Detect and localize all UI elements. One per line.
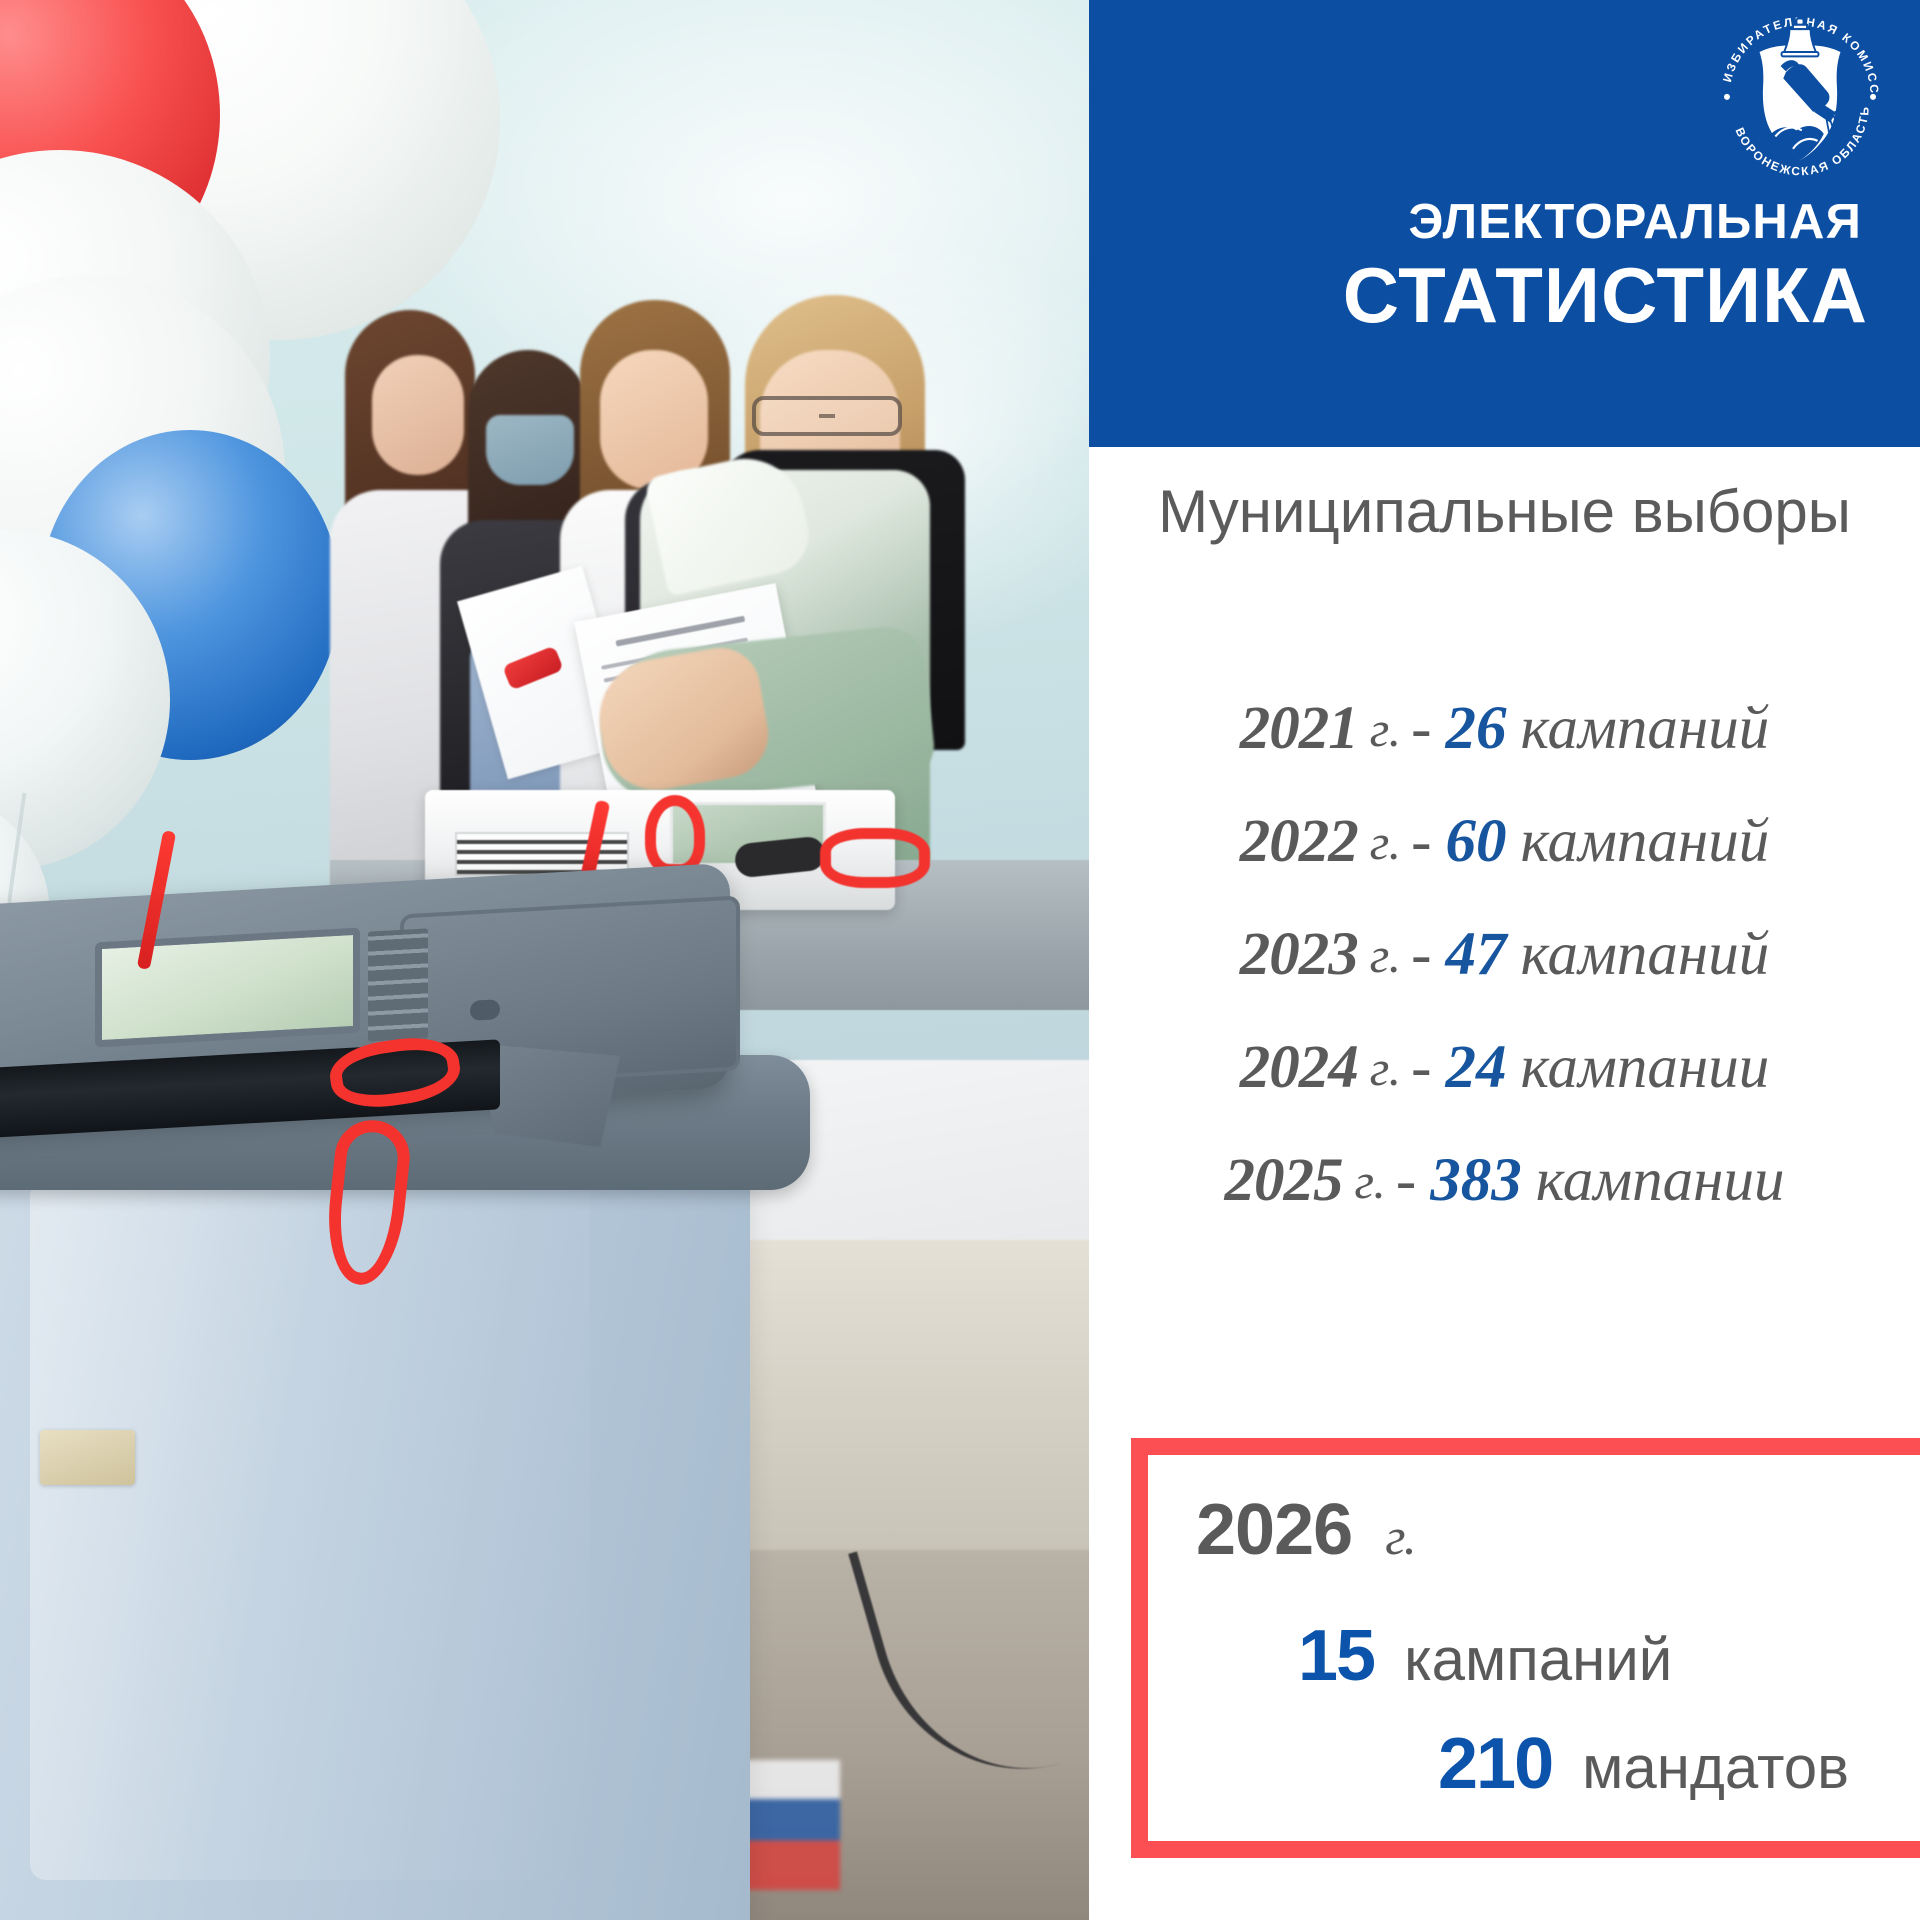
ballot-box-label: [40, 1430, 135, 1485]
campaign-unit: кампаний: [1404, 1625, 1672, 1694]
year-suffix: г.: [1370, 700, 1401, 758]
year-suffix: г.: [1370, 1039, 1401, 1097]
campaign-unit: кампании: [1536, 1146, 1785, 1216]
campaign-count: 60: [1445, 807, 1506, 877]
mandate-unit: мандатов: [1582, 1733, 1849, 1802]
year-label: 2023: [1240, 920, 1358, 990]
year-label: 2022: [1240, 807, 1358, 877]
year-label: 2021: [1240, 694, 1358, 764]
year-stat-row: 2022 г. - 60 кампаний: [1089, 785, 1920, 898]
year-label: 2024: [1240, 1033, 1358, 1103]
campaign-count: 26: [1445, 694, 1506, 764]
glasses-icon: [752, 396, 902, 436]
year-stat-row: 2023 г. - 47 кампаний: [1089, 898, 1920, 1011]
stats-panel: ИЗБИРАТЕЛЬНАЯ КОМИССИЯ ВОРОНЕЖСКАЯ ОБЛАС…: [1089, 0, 1920, 1920]
highlight-year: 2026: [1196, 1490, 1352, 1570]
campaign-count: 383: [1430, 1146, 1522, 1216]
section-subtitle: Муниципальные выборы: [1089, 478, 1920, 545]
dash: -: [1411, 1033, 1431, 1103]
highlight-row-campaigns: 15 кампаний: [1298, 1615, 1672, 1697]
campaign-unit: кампаний: [1520, 694, 1769, 764]
highlight-row-mandates: 210 мандатов: [1438, 1723, 1849, 1805]
polling-station-photo: [0, 0, 1089, 1920]
year-suffix: г.: [1370, 813, 1401, 871]
scanner-keypad: [368, 928, 428, 1041]
dash: -: [1411, 920, 1431, 990]
dash: -: [1396, 1146, 1416, 1216]
campaign-unit: кампаний: [1520, 807, 1769, 877]
ballot-box-sheen: [30, 1180, 590, 1880]
dash: -: [1411, 807, 1431, 877]
campaign-unit: кампании: [1520, 1033, 1769, 1103]
year-stats-list: 2021 г. - 26 кампаний 2022 г. - 60 кампа…: [1089, 672, 1920, 1237]
campaign-count: 24: [1445, 1033, 1506, 1103]
year-stat-row: 2025 г. - 383 кампании: [1089, 1124, 1920, 1237]
campaign-count: 47: [1445, 920, 1506, 990]
dash: -: [1411, 694, 1431, 764]
infographic-page: ИЗБИРАТЕЛЬНАЯ КОМИССИЯ ВОРОНЕЖСКАЯ ОБЛАС…: [0, 0, 1920, 1920]
voronezh-election-commission-emblem: ИЗБИРАТЕЛЬНАЯ КОМИССИЯ ВОРОНЕЖСКАЯ ОБЛАС…: [1712, 8, 1888, 184]
campaign-unit: кампаний: [1520, 920, 1769, 990]
year-suffix: г.: [1355, 1152, 1386, 1210]
voter-figure: [372, 355, 464, 475]
year-label: 2025: [1225, 1146, 1343, 1216]
scanner-latch: [470, 999, 500, 1021]
page-title: СТАТИСТИКА: [1089, 250, 1868, 341]
year-suffix: г.: [1370, 926, 1401, 984]
voter-figure: [486, 415, 574, 485]
panel-header: ИЗБИРАТЕЛЬНАЯ КОМИССИЯ ВОРОНЕЖСКАЯ ОБЛАС…: [1089, 0, 1920, 447]
highlight-box-2026: 2026 г. 15 кампаний 210 мандатов: [1131, 1438, 1920, 1858]
year-stat-row: 2024 г. - 24 кампании: [1089, 1011, 1920, 1124]
highlight-year-line: 2026 г.: [1196, 1489, 1416, 1571]
security-seal: [645, 795, 705, 875]
scanner-display: [95, 928, 360, 1048]
security-seal: [820, 828, 930, 888]
year-stat-row: 2021 г. - 26 кампаний: [1089, 672, 1920, 785]
campaign-count: 15: [1298, 1615, 1374, 1697]
highlight-year-suffix: г.: [1385, 1509, 1416, 1566]
mandate-count: 210: [1438, 1723, 1552, 1805]
header-kicker: ЭЛЕКТОРАЛЬНАЯ: [1089, 194, 1862, 250]
